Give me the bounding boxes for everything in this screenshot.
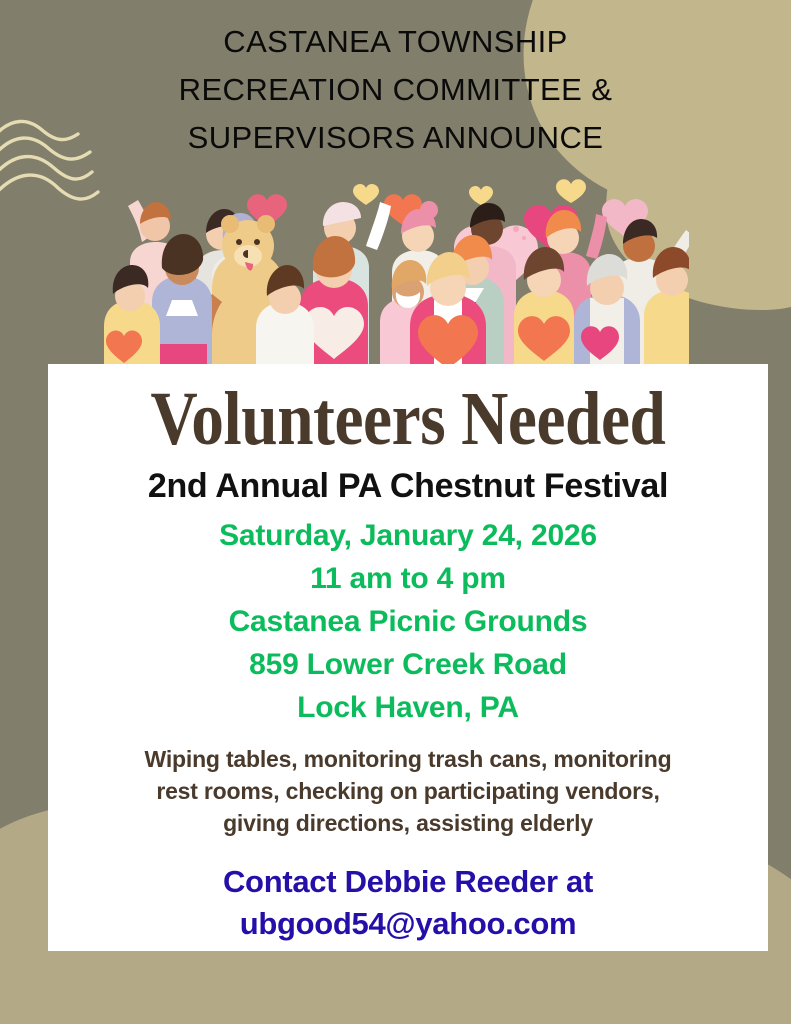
volunteer-flyer: CASTANEA TOWNSHIP RECREATION COMMITTEE &…: [0, 0, 791, 1024]
event-venue: Castanea Picnic Grounds: [48, 600, 768, 643]
event-date: Saturday, January 24, 2026: [48, 514, 768, 557]
event-subtitle: 2nd Annual PA Chestnut Festival: [48, 462, 768, 508]
duties-line-3: giving directions, assisting elderly: [78, 807, 738, 839]
headline-line-3: SUPERVISORS ANNOUNCE: [0, 114, 791, 162]
headline-line-1: CASTANEA TOWNSHIP: [0, 18, 791, 66]
flyer-content-card: Volunteers Needed 2nd Annual PA Chestnut…: [48, 364, 768, 951]
headline-line-2: RECREATION COMMITTEE &: [0, 66, 791, 114]
contact-person: Contact Debbie Reeder at: [48, 861, 768, 903]
duties-line-1: Wiping tables, monitoring trash cans, mo…: [78, 743, 738, 775]
contact-info: Contact Debbie Reeder at ubgood54@yahoo.…: [48, 839, 768, 945]
event-details: Saturday, January 24, 2026 11 am to 4 pm…: [48, 508, 768, 729]
card-title: Volunteers Needed: [98, 364, 717, 462]
crowd-illustration: [104, 176, 689, 368]
contact-email[interactable]: ubgood54@yahoo.com: [48, 903, 768, 945]
crowd-mid-row: [104, 234, 689, 368]
event-time: 11 am to 4 pm: [48, 557, 768, 600]
duties-line-2: rest rooms, checking on participating ve…: [78, 775, 738, 807]
event-city-state: Lock Haven, PA: [48, 686, 768, 729]
event-street-address: 859 Lower Creek Road: [48, 643, 768, 686]
flyer-headline: CASTANEA TOWNSHIP RECREATION COMMITTEE &…: [0, 18, 791, 162]
volunteer-duties: Wiping tables, monitoring trash cans, mo…: [48, 729, 768, 839]
